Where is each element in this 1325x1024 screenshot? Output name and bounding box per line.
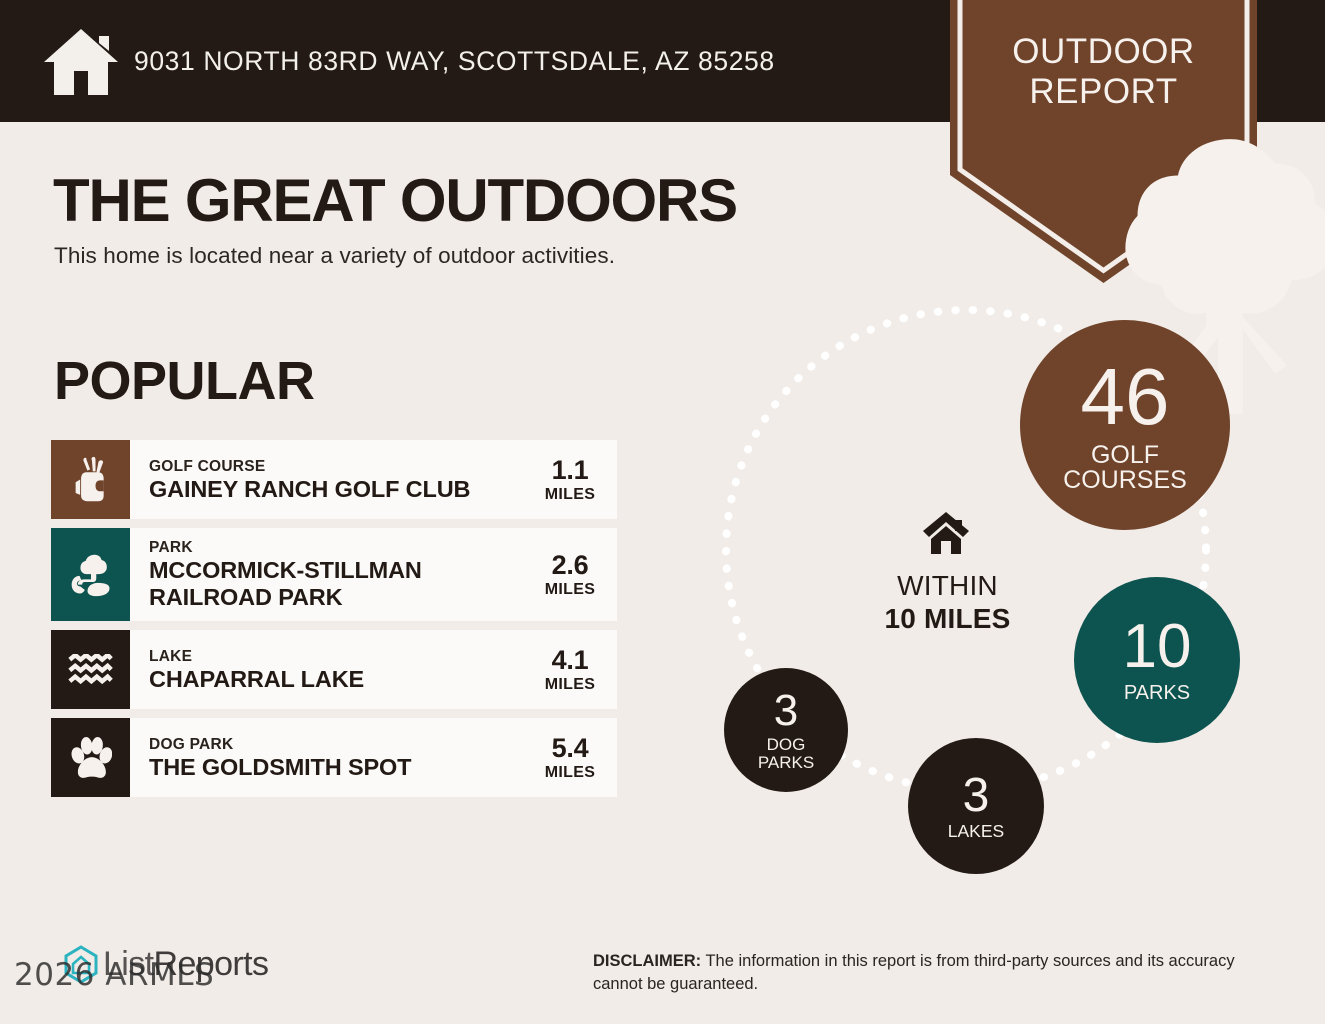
badge-title: OUTDOOR REPORT	[950, 32, 1257, 112]
list-item[interactable]: GOLF COURSE GAINEY RANCH GOLF CLUB 1.1 M…	[51, 440, 617, 519]
center-caption-line2: 10 MILES	[840, 602, 1055, 635]
amenities-bubble-chart: 46 GOLF COURSES 10 PARKS 3 LAKES 3 DOG P…	[690, 305, 1270, 875]
page-subtitle: This home is located near a variety of o…	[54, 243, 615, 269]
list-item[interactable]: DOG PARK THE GOLDSMITH SPOT 5.4 MILES	[51, 718, 617, 797]
list-item-distance: 1.1 MILES	[531, 440, 617, 519]
bubble-value: 3	[774, 689, 798, 733]
list-item-category: LAKE	[149, 647, 531, 666]
bubble-dog-parks[interactable]: 3 DOG PARKS	[724, 668, 848, 792]
popular-heading: POPULAR	[54, 350, 315, 412]
bubble-label: PARKS	[1124, 683, 1190, 703]
home-icon	[43, 26, 119, 98]
bubble-golf-courses[interactable]: 46 GOLF COURSES	[1020, 320, 1230, 530]
list-item-name: MCCORMICK-STILLMAN RAILROAD PARK	[149, 557, 531, 611]
bubble-value: 3	[963, 772, 990, 820]
distance-unit: MILES	[545, 763, 595, 782]
badge-title-line2: REPORT	[950, 72, 1257, 112]
park-tree-icon	[51, 528, 130, 621]
list-item[interactable]: PARK MCCORMICK-STILLMAN RAILROAD PARK 2.…	[51, 528, 617, 621]
distance-value: 5.4	[552, 734, 589, 763]
list-item-category: GOLF COURSE	[149, 457, 531, 476]
bubble-label: DOG PARKS	[758, 736, 814, 771]
bubble-label: LAKES	[948, 823, 1004, 841]
list-item-distance: 4.1 MILES	[531, 630, 617, 709]
bubble-lakes[interactable]: 3 LAKES	[908, 738, 1044, 874]
page-title: THE GREAT OUTDOORS	[53, 166, 737, 235]
distance-value: 2.6	[552, 551, 589, 580]
property-address: 9031 NORTH 83RD WAY, SCOTTSDALE, AZ 8525…	[134, 46, 775, 77]
distance-value: 1.1	[552, 456, 589, 485]
distance-unit: MILES	[545, 485, 595, 504]
home-icon	[922, 511, 970, 555]
bubble-value: 10	[1123, 616, 1192, 678]
list-item-name: THE GOLDSMITH SPOT	[149, 754, 531, 781]
bubble-label: GOLF COURSES	[1063, 443, 1187, 494]
distance-unit: MILES	[545, 675, 595, 694]
distance-unit: MILES	[545, 580, 595, 599]
armls-watermark: 2026 ARMLS	[14, 957, 214, 993]
list-item-distance: 2.6 MILES	[531, 528, 617, 621]
tree-icon	[1077, 131, 1131, 201]
outdoor-report-badge: OUTDOOR REPORT	[950, 0, 1257, 283]
distance-value: 4.1	[552, 646, 589, 675]
center-caption-line1: WITHIN	[840, 569, 1055, 602]
list-item-category: PARK	[149, 538, 531, 557]
disclaimer: DISCLAIMER: The information in this repo…	[593, 950, 1283, 995]
list-item-name: GAINEY RANCH GOLF CLUB	[149, 476, 531, 503]
list-item-category: DOG PARK	[149, 735, 531, 754]
paw-print-icon	[51, 718, 130, 797]
disclaimer-label: DISCLAIMER:	[593, 952, 701, 970]
center-caption: WITHIN 10 MILES	[840, 569, 1055, 635]
bubble-value: 46	[1081, 357, 1170, 437]
bubble-parks[interactable]: 10 PARKS	[1074, 577, 1240, 743]
popular-list: GOLF COURSE GAINEY RANCH GOLF CLUB 1.1 M…	[51, 440, 617, 806]
list-item-distance: 5.4 MILES	[531, 718, 617, 797]
waves-icon	[51, 630, 130, 709]
outdoor-report-page: 9031 NORTH 83RD WAY, SCOTTSDALE, AZ 8525…	[0, 0, 1325, 1024]
badge-title-line1: OUTDOOR	[950, 32, 1257, 72]
list-item[interactable]: LAKE CHAPARRAL LAKE 4.1 MILES	[51, 630, 617, 709]
list-item-name: CHAPARRAL LAKE	[149, 666, 531, 693]
golf-bag-icon	[51, 440, 130, 519]
